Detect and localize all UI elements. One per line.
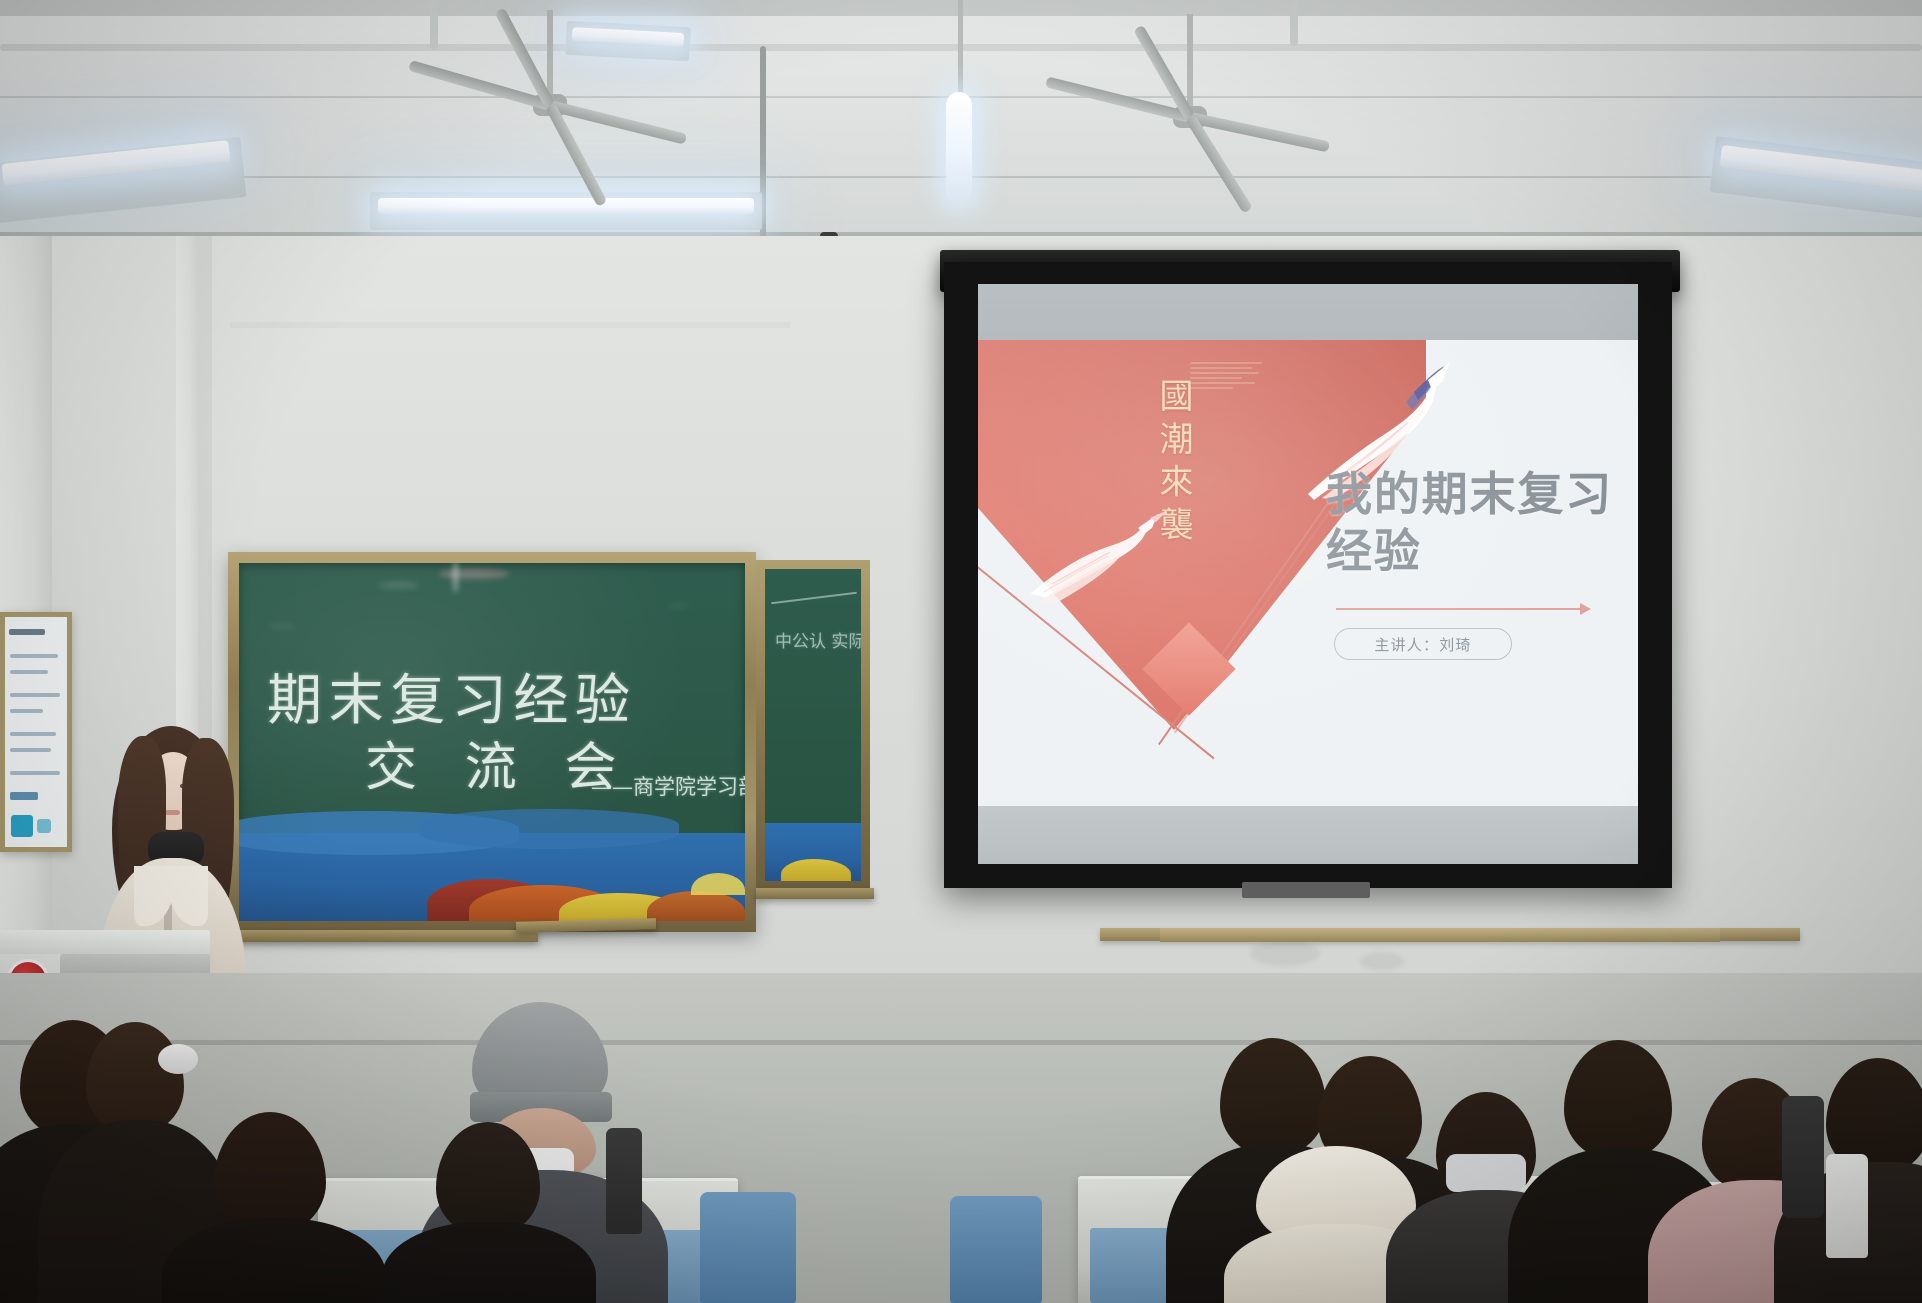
audience-shoulders — [382, 1222, 596, 1303]
side-blackboard-notes: 中公认 实际 5天5h 但对 纯末 十几点 — [775, 631, 861, 654]
blackboard-signature: ——商学院学习部 — [591, 771, 745, 801]
audience-head — [214, 1112, 326, 1234]
slide-title-line-2: 经验 — [1326, 523, 1613, 580]
audience-member — [178, 1112, 368, 1303]
arrow-head-icon — [1580, 603, 1591, 615]
slide: 國潮來襲 — [978, 340, 1638, 806]
seal-lines-icon — [1190, 362, 1262, 392]
chair-back — [700, 1192, 796, 1303]
face-mask — [1446, 1154, 1526, 1192]
screen-weight-bar — [1242, 882, 1370, 898]
water-bottle — [606, 1128, 642, 1234]
arrow-icon — [1336, 608, 1582, 610]
wall-smudge — [1360, 952, 1404, 970]
wall-seam — [230, 322, 790, 328]
water-bottle — [1782, 1096, 1824, 1218]
side-blackboard-surface: 中公认 实际 5天5h 但对 纯末 十几点 — [765, 569, 861, 881]
side-blackboard: 中公认 实际 5天5h 但对 纯末 十几点 — [756, 560, 870, 890]
ceiling-fan — [1040, 14, 1340, 164]
speaker-badge: 主讲人：刘琦 — [1334, 628, 1512, 660]
crane-icon — [1018, 498, 1168, 618]
pendant-lamp — [946, 92, 972, 204]
presenter-mouth — [165, 810, 180, 815]
pendant-rod — [958, 0, 963, 96]
audience-head — [86, 1022, 184, 1134]
blackboard: 期末复习经验 交 流 会 ——商学院学习部 — [228, 552, 756, 932]
blackboard-title-line-1: 期末复习经验 — [267, 655, 637, 735]
podium-top — [0, 930, 210, 954]
ceiling-fan — [400, 10, 700, 150]
audience-head — [1564, 1040, 1672, 1160]
projection-screen-surface: 國潮來襲 — [978, 284, 1638, 864]
water-bottle — [1826, 1154, 1868, 1258]
slide-title: 我的期末复习 经验 — [1326, 466, 1613, 580]
wall-poster — [0, 612, 72, 852]
chalk-tray — [228, 930, 538, 942]
blackboard-surface: 期末复习经验 交 流 会 ——商学院学习部 — [239, 563, 745, 921]
wall-batten — [1160, 928, 1720, 942]
audience-member — [402, 1122, 572, 1303]
wall-smudge — [1250, 940, 1320, 966]
fluorescent-tube — [378, 198, 754, 214]
screen-bottom-band — [978, 806, 1638, 864]
chalk-tray — [756, 888, 874, 899]
classroom-scene: 期末复习经验 交 流 会 ——商学院学习部 中公认 实际 5天5h 但对 纯末 … — [0, 0, 1922, 1303]
audience-head — [436, 1122, 540, 1236]
audience-shoulders — [162, 1218, 386, 1303]
slide-title-line-1: 我的期末复习 — [1326, 466, 1613, 523]
chair-back — [950, 1196, 1042, 1303]
projection-screen-frame: 國潮來襲 — [944, 262, 1672, 888]
hair-clip — [158, 1044, 198, 1074]
screen-top-band — [978, 284, 1638, 340]
